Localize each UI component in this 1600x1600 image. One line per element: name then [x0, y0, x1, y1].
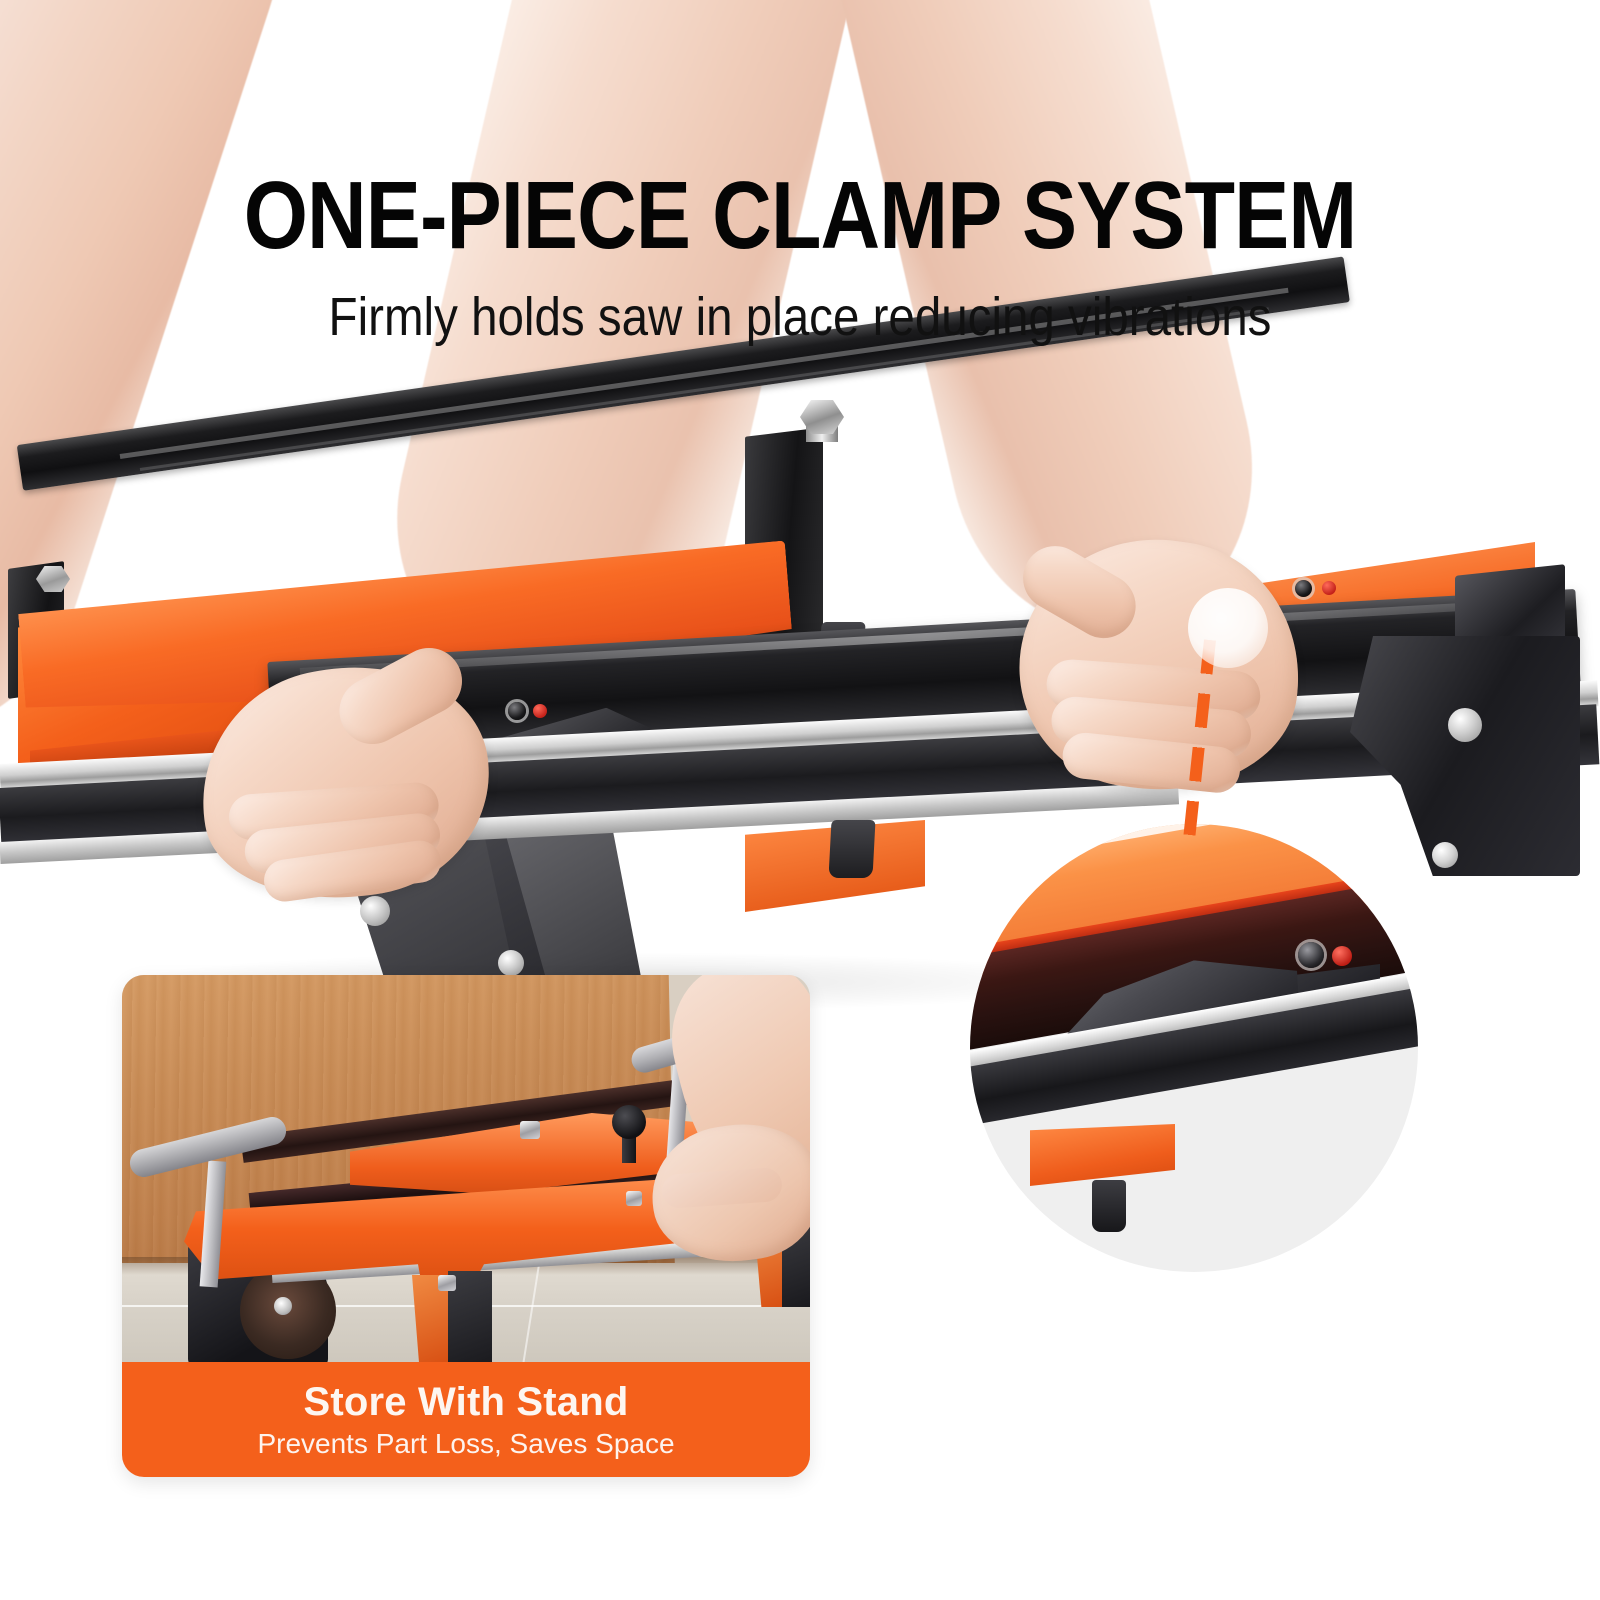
- page-title: ONE-PIECE CLAMP SYSTEM: [112, 168, 1488, 264]
- inset-caption-band: Store With Stand Prevents Part Loss, Sav…: [122, 1362, 810, 1477]
- leg-bolt-rear: [360, 896, 390, 926]
- inset-caption-subtitle: Prevents Part Loss, Saves Space: [257, 1427, 674, 1461]
- folded-bolt-2: [438, 1275, 456, 1291]
- red-plug-left: [533, 704, 547, 718]
- saw-blade-hub: [274, 1297, 292, 1315]
- detail-orange-foot-plate: [1030, 1124, 1175, 1186]
- inset-photo: [122, 975, 810, 1363]
- thumb-right: [1011, 534, 1147, 649]
- detail-screw-icon: [1298, 942, 1324, 968]
- leg-bolt-lower: [1432, 842, 1458, 868]
- lock-knob-icon: [612, 1105, 646, 1139]
- folded-bolt-1: [520, 1121, 540, 1139]
- product-feature-card: ONE-PIECE CLAMP SYSTEM Firmly holds saw …: [0, 0, 1600, 1600]
- leg-bolt-rear-lower: [498, 950, 524, 976]
- inset-panel-store-with-stand: Store With Stand Prevents Part Loss, Sav…: [122, 975, 810, 1477]
- folded-bolt-4: [626, 1191, 642, 1206]
- clamp-lever-detail-magnifier: [970, 824, 1418, 1272]
- inset-caption-title: Store With Stand: [303, 1379, 628, 1425]
- leg-bolt-upper: [1448, 708, 1482, 742]
- beam-screw-right: [1295, 580, 1312, 597]
- detail-red-plug: [1332, 946, 1352, 966]
- highlight-marker-icon: [1188, 588, 1268, 668]
- rubber-foot-lower: [828, 820, 875, 878]
- page-subtitle: Firmly holds saw in place reducing vibra…: [96, 288, 1504, 346]
- beam-screw-left: [508, 702, 526, 720]
- detail-rubber-foot: [1092, 1180, 1126, 1232]
- red-plug-right: [1322, 581, 1336, 595]
